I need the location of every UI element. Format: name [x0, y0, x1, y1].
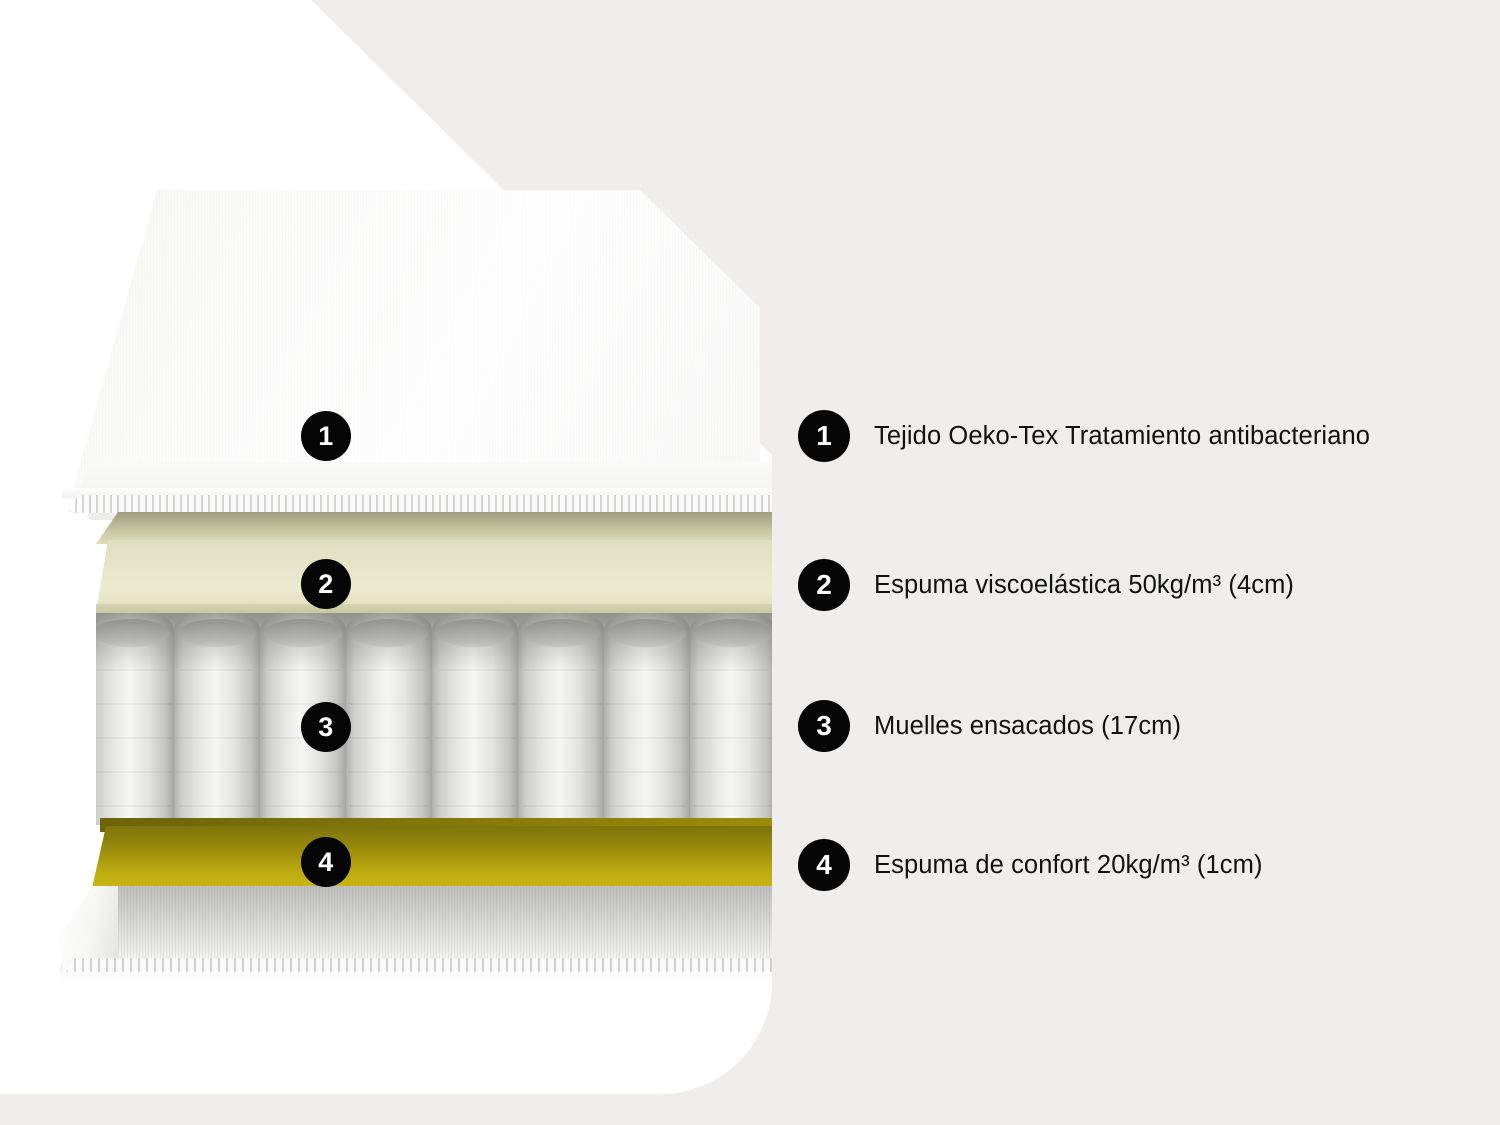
layer-badge-1-number: 1	[318, 421, 334, 452]
viscoelastic-foam-slab	[96, 540, 772, 612]
legend-badge-3: 3	[798, 700, 850, 752]
legend-badge-2-number: 2	[816, 569, 832, 601]
layer-badge-2-number: 2	[318, 569, 334, 600]
legend-item-1[interactable]: 1 Tejido Oeko-Tex Tratamiento antibacter…	[798, 410, 1370, 462]
pocket-spring-coil	[432, 613, 518, 825]
layer-badge-1[interactable]: 1	[301, 411, 351, 461]
mattress-cross-section-illustration: 1 2 3 4	[0, 0, 772, 1094]
pocket-spring-coil	[604, 613, 690, 825]
pocket-spring-coil	[174, 613, 260, 825]
legend-badge-4: 4	[798, 839, 850, 891]
layer-badge-4-number: 4	[318, 847, 334, 878]
legend-badge-4-number: 4	[816, 849, 832, 881]
legend-badge-1: 1	[798, 410, 850, 462]
legend-item-4[interactable]: 4 Espuma de confort 20kg/m³ (1cm)	[798, 839, 1263, 891]
legend-label-3: Muelles ensacados (17cm)	[874, 712, 1181, 741]
layer-badge-3[interactable]: 3	[301, 702, 351, 752]
base-bottom-edge	[58, 972, 772, 986]
pocket-spring-coil	[96, 613, 174, 825]
layer-badge-4[interactable]: 4	[301, 837, 351, 887]
cover-stitched-piping	[68, 495, 772, 513]
legend-label-4: Espuma de confort 20kg/m³ (1cm)	[874, 851, 1263, 880]
pocket-spring-coil	[518, 613, 604, 825]
legend-label-1: Tejido Oeko-Tex Tratamiento antibacteria…	[874, 422, 1370, 451]
comfort-foam-slab	[92, 826, 772, 888]
layer-legend: 1 Tejido Oeko-Tex Tratamiento antibacter…	[798, 0, 1488, 1125]
pocket-spring-coil	[346, 613, 432, 825]
viscoelastic-foam-top-edge	[96, 512, 772, 544]
layer-badge-2[interactable]: 2	[301, 559, 351, 609]
product-layer-diagram: 1 2 3 4 1 Tejido Oeko-Tex Tratamiento an…	[0, 0, 1500, 1125]
pocket-spring-coil	[690, 613, 772, 825]
layer-badge-3-number: 3	[318, 712, 334, 743]
legend-item-2[interactable]: 2 Espuma viscoelástica 50kg/m³ (4cm)	[798, 559, 1294, 611]
legend-label-2: Espuma viscoelástica 50kg/m³ (4cm)	[874, 571, 1294, 600]
legend-badge-1-number: 1	[816, 420, 832, 452]
legend-badge-2: 2	[798, 559, 850, 611]
legend-item-3[interactable]: 3 Muelles ensacados (17cm)	[798, 700, 1181, 752]
pocket-springs-row	[96, 613, 772, 825]
legend-badge-3-number: 3	[816, 710, 832, 742]
